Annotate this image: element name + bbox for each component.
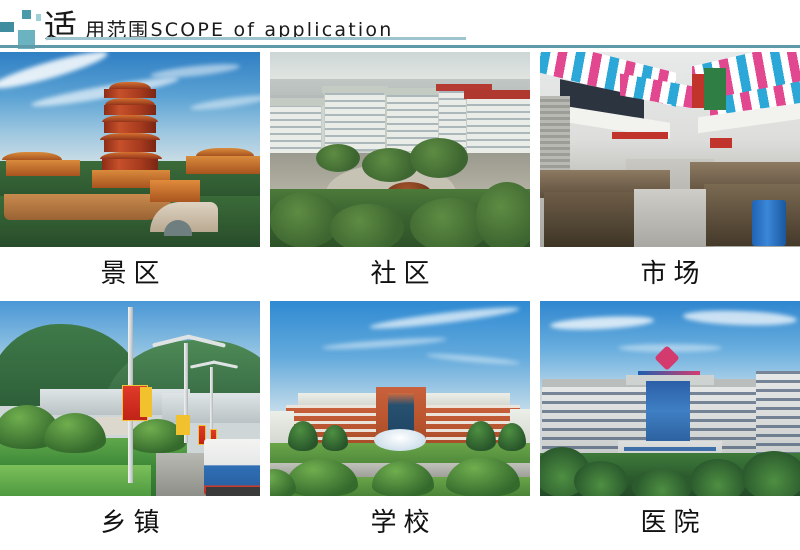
grid-cell[interactable]: 医院: [540, 301, 800, 550]
title-underline-accent: [46, 37, 466, 40]
hospital-building-photo: [540, 301, 800, 496]
grid-cell[interactable]: 景区: [0, 52, 260, 301]
cell-caption: 学校: [270, 496, 530, 550]
township-road-photo: [0, 301, 260, 496]
header-divider: [0, 45, 800, 48]
cell-caption: 市场: [540, 247, 800, 301]
grid-cell[interactable]: 学校: [270, 301, 530, 550]
grid-cell[interactable]: 乡镇: [0, 301, 260, 550]
cell-caption: 乡镇: [0, 496, 260, 550]
cell-caption: 社区: [270, 247, 530, 301]
grid-cell[interactable]: 社区: [270, 52, 530, 301]
grid-cell[interactable]: 市场: [540, 52, 800, 301]
scope-grid: 景区: [0, 52, 800, 550]
scenic-area-pagoda-photo: [0, 52, 260, 247]
school-campus-photo: [270, 301, 530, 496]
cell-caption: 医院: [540, 496, 800, 550]
residential-community-photo: [270, 52, 530, 247]
grid-row: 乡镇: [0, 301, 800, 550]
cell-caption: 景区: [0, 247, 260, 301]
street-market-photo: [540, 52, 800, 247]
page-header: 适 用范围 SCOPE of application: [0, 0, 800, 52]
grid-row: 景区: [0, 52, 800, 301]
